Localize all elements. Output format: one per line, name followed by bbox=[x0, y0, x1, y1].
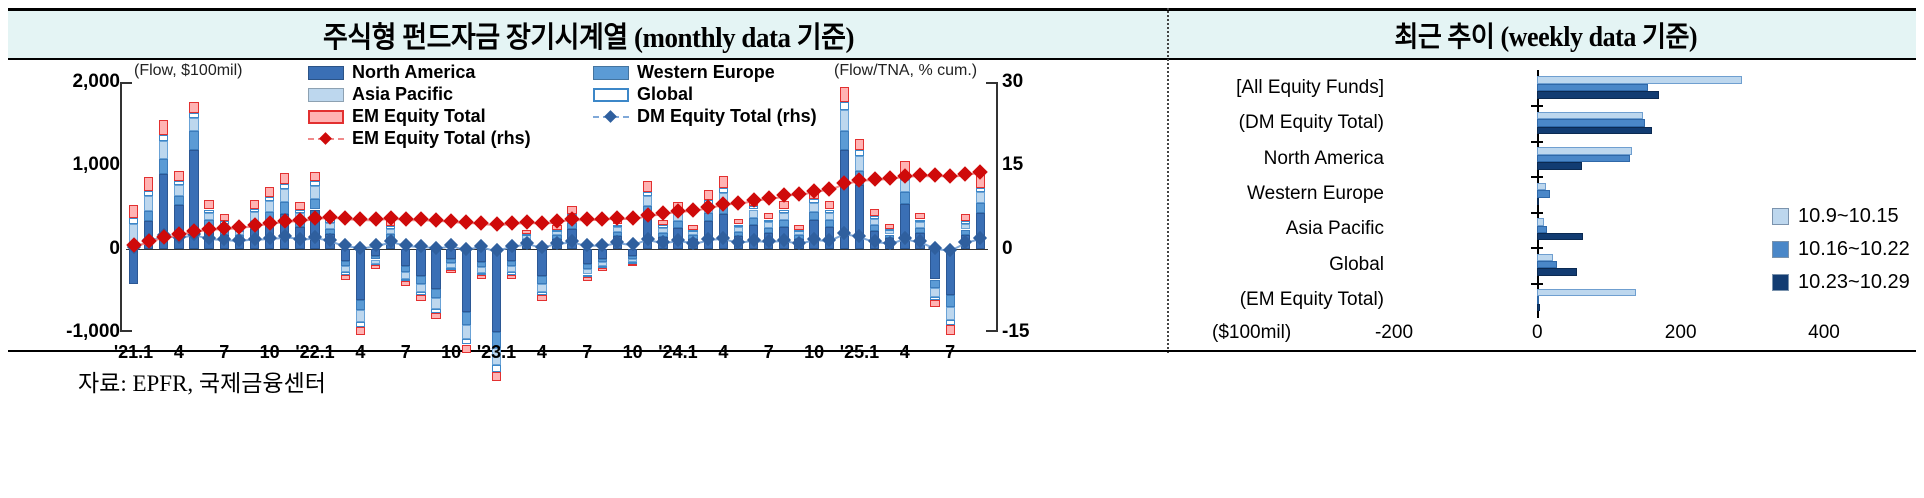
bar-segment bbox=[431, 289, 440, 298]
data-marker bbox=[595, 211, 611, 227]
data-marker bbox=[625, 210, 641, 226]
bar-segment bbox=[885, 224, 894, 229]
weekly-bar bbox=[1537, 296, 1539, 303]
data-marker bbox=[942, 168, 958, 184]
bar-segment bbox=[673, 221, 682, 228]
x-tick-label: '22.1 bbox=[295, 342, 334, 363]
bar-segment bbox=[930, 280, 939, 288]
bar-segment bbox=[764, 228, 773, 233]
legend-item[interactable]: EM Equity Total bbox=[308, 106, 593, 127]
bar-segment bbox=[280, 189, 289, 202]
bar-segment bbox=[371, 265, 380, 268]
weekly-bar bbox=[1537, 162, 1581, 169]
weekly-axis-tick bbox=[1531, 283, 1543, 285]
weekly-legend-swatch bbox=[1772, 241, 1789, 258]
bar-segment bbox=[764, 213, 773, 220]
bar-segment bbox=[159, 159, 168, 174]
header-band: 주식형 펀드자금 장기시계열 (monthly data 기준) 최근 추이 (… bbox=[8, 8, 1916, 60]
bar-segment bbox=[704, 190, 713, 200]
bar-segment bbox=[643, 196, 652, 206]
bar-segment bbox=[809, 212, 818, 220]
data-marker bbox=[685, 202, 701, 218]
data-marker bbox=[504, 215, 520, 231]
legend-swatch bbox=[593, 66, 629, 80]
weekly-x-tick-label: -200 bbox=[1375, 322, 1413, 344]
y-axis-right: 30150-15 bbox=[1002, 82, 1072, 332]
bar-segment bbox=[825, 210, 834, 213]
bar-segment bbox=[825, 201, 834, 209]
data-marker bbox=[882, 170, 898, 186]
weekly-bar bbox=[1537, 218, 1543, 225]
legend-item[interactable]: Western Europe bbox=[593, 62, 868, 83]
bar-segment bbox=[825, 213, 834, 221]
legend-label: DM Equity Total (rhs) bbox=[637, 106, 817, 127]
bar-segment bbox=[144, 196, 153, 211]
bar-segment bbox=[144, 177, 153, 191]
bar-segment bbox=[416, 284, 425, 292]
weekly-legend-swatch bbox=[1772, 274, 1789, 291]
data-marker bbox=[867, 171, 883, 187]
bar-segment bbox=[915, 228, 924, 233]
bar-segment bbox=[492, 372, 501, 381]
weekly-bar bbox=[1537, 254, 1553, 261]
bar-segment bbox=[915, 220, 924, 223]
bar-segment bbox=[583, 277, 592, 281]
bar-segment bbox=[416, 295, 425, 301]
bar-segment bbox=[794, 231, 803, 235]
bar-segment bbox=[809, 203, 818, 212]
bar-segment bbox=[310, 172, 319, 181]
bar-segment bbox=[961, 214, 970, 222]
bar-segment bbox=[628, 264, 637, 267]
bar-segment bbox=[764, 222, 773, 228]
bar-segment bbox=[280, 202, 289, 214]
weekly-bar bbox=[1537, 268, 1576, 275]
weekly-bar bbox=[1537, 261, 1557, 268]
page-title-left: 주식형 펀드자금 장기시계열 (monthly data 기준) bbox=[322, 14, 853, 56]
bar-segment bbox=[870, 225, 879, 231]
weekly-bar bbox=[1537, 91, 1659, 98]
bar-segment bbox=[356, 249, 365, 301]
x-tick-label: 4 bbox=[174, 342, 184, 363]
weekly-bar bbox=[1537, 112, 1643, 119]
x-tick-label: 4 bbox=[718, 342, 728, 363]
legend-swatch bbox=[308, 66, 344, 80]
bar-segment bbox=[310, 181, 319, 186]
legend-label: North America bbox=[352, 62, 475, 83]
legend-item[interactable]: North America bbox=[308, 62, 593, 83]
bar-segment bbox=[250, 209, 259, 212]
bar-segment bbox=[401, 281, 410, 286]
bar-segment bbox=[976, 203, 985, 213]
weekly-bar bbox=[1537, 84, 1648, 91]
weekly-axis-tick bbox=[1531, 247, 1543, 249]
bar-segment bbox=[719, 176, 728, 188]
bar-segment bbox=[658, 225, 667, 228]
weekly-plot-area bbox=[1394, 70, 1824, 318]
bar-segment bbox=[416, 276, 425, 284]
legend-column: Western EuropeGlobalDM Equity Total (rhs… bbox=[593, 62, 868, 128]
monthly-flows-chart: (Flow, $100mil) (Flow/TNA, % cum.) 2,000… bbox=[8, 60, 1166, 352]
weekly-category-label: [All Equity Funds] bbox=[1236, 77, 1384, 99]
data-marker bbox=[443, 213, 459, 229]
weekly-category-label: Western Europe bbox=[1247, 183, 1384, 205]
bar-segment bbox=[144, 211, 153, 221]
data-marker bbox=[731, 195, 747, 211]
bar-segment bbox=[250, 200, 259, 208]
bar-segment bbox=[930, 288, 939, 297]
bar-segment bbox=[537, 276, 546, 284]
x-tick-label: 7 bbox=[401, 342, 411, 363]
weekly-category-label: Asia Pacific bbox=[1286, 218, 1384, 240]
bar-segment bbox=[446, 270, 455, 273]
bar-segment bbox=[749, 218, 758, 226]
weekly-x-axis-labels: -2000200400 bbox=[1394, 322, 1824, 348]
data-marker bbox=[958, 166, 974, 182]
bar-segment bbox=[809, 199, 818, 203]
bar-segment bbox=[688, 225, 697, 230]
weekly-bar bbox=[1537, 233, 1583, 240]
y2-tick-label: -15 bbox=[1002, 321, 1029, 343]
figure-root: 주식형 펀드자금 장기시계열 (monthly data 기준) 최근 추이 (… bbox=[0, 0, 1924, 498]
data-marker bbox=[579, 211, 595, 227]
bar-segment bbox=[507, 275, 516, 279]
legend-column: North AmericaAsia PacificEM Equity Total… bbox=[308, 62, 593, 150]
x-tick-label: 4 bbox=[537, 342, 547, 363]
bar-segment bbox=[779, 210, 788, 213]
weekly-category-label: (DM Equity Total) bbox=[1239, 112, 1384, 134]
weekly-bar bbox=[1537, 289, 1636, 296]
bar-segment bbox=[734, 225, 743, 228]
bar-segment bbox=[658, 228, 667, 233]
bar-segment bbox=[552, 230, 561, 232]
x-tick-label: 10 bbox=[260, 342, 280, 363]
bar-segment bbox=[749, 210, 758, 218]
bar-segment bbox=[310, 199, 319, 210]
weekly-bar bbox=[1537, 127, 1652, 134]
bar-segment bbox=[764, 220, 773, 223]
bar-segment bbox=[280, 184, 289, 189]
bar-segment bbox=[386, 226, 395, 229]
weekly-x-tick-label: 200 bbox=[1665, 322, 1697, 344]
bar-segment bbox=[174, 185, 183, 196]
bar-segment bbox=[189, 118, 198, 131]
bar-segment bbox=[356, 327, 365, 335]
bar-segment bbox=[825, 220, 834, 227]
legend-line-marker bbox=[308, 132, 344, 146]
data-marker bbox=[519, 214, 535, 230]
bar-segment bbox=[189, 113, 198, 118]
x-tick-label: 7 bbox=[945, 342, 955, 363]
weekly-legend-label: 10.23~10.29 bbox=[1798, 271, 1910, 294]
bar-segment bbox=[431, 298, 440, 309]
bar-segment bbox=[462, 249, 471, 312]
weekly-bar bbox=[1537, 183, 1546, 190]
legend-label: Western Europe bbox=[637, 62, 775, 83]
bar-segment bbox=[189, 102, 198, 113]
bar-segment bbox=[794, 225, 803, 230]
legend-label: EM Equity Total (rhs) bbox=[352, 128, 531, 149]
legend-swatch bbox=[308, 110, 344, 124]
legend-line-marker bbox=[593, 110, 629, 124]
x-tick-label: 4 bbox=[355, 342, 365, 363]
bar-segment bbox=[946, 307, 955, 320]
bar-segment bbox=[537, 284, 546, 292]
data-marker bbox=[428, 213, 444, 229]
y2-tick-label: 30 bbox=[1002, 71, 1023, 93]
bar-segment bbox=[976, 192, 985, 203]
bar-segment bbox=[734, 227, 743, 232]
bar-segment bbox=[946, 295, 955, 307]
data-marker bbox=[398, 211, 414, 227]
legend-swatch bbox=[308, 88, 344, 102]
weekly-legend-swatch bbox=[1772, 208, 1789, 225]
bar-segment bbox=[401, 272, 410, 279]
bar-segment bbox=[265, 201, 274, 212]
weekly-legend-item[interactable]: 10.23~10.29 bbox=[1772, 266, 1910, 299]
bar-segment bbox=[885, 230, 894, 234]
bar-segment bbox=[915, 213, 924, 220]
weekly-axis-tick bbox=[1531, 105, 1543, 107]
bar-segment bbox=[930, 300, 939, 307]
bar-segment bbox=[961, 230, 970, 235]
bar-segment bbox=[492, 249, 501, 332]
y2-tick-label: 0 bbox=[1002, 238, 1013, 260]
bar-segment bbox=[477, 275, 486, 279]
bar-segment bbox=[946, 325, 955, 335]
bar-segment bbox=[900, 192, 909, 204]
data-marker bbox=[368, 211, 384, 227]
data-marker bbox=[927, 168, 943, 184]
bar-segment bbox=[688, 231, 697, 235]
header-right: 최근 추이 (weekly data 기준) bbox=[1176, 11, 1916, 58]
bar-segment bbox=[870, 216, 879, 219]
bar-segment bbox=[688, 230, 697, 232]
data-marker bbox=[489, 216, 505, 232]
weekly-legend: 10.9~10.1510.16~10.2210.23~10.29 bbox=[1772, 200, 1910, 299]
bar-segment bbox=[310, 186, 319, 199]
data-marker bbox=[912, 167, 928, 183]
page-title-right: 최근 추이 (weekly data 기준) bbox=[1395, 15, 1698, 55]
legend-item[interactable]: EM Equity Total (rhs) bbox=[308, 128, 593, 149]
y-tick-label: 2,000 bbox=[72, 71, 120, 93]
weekly-axis-tick bbox=[1531, 141, 1543, 143]
weekly-bar bbox=[1537, 76, 1741, 83]
weekly-category-label: North America bbox=[1264, 148, 1384, 170]
bar-segment bbox=[870, 209, 879, 217]
bar-segment bbox=[189, 131, 198, 150]
x-tick-label: '23.1 bbox=[477, 342, 516, 363]
x-tick-label: 10 bbox=[804, 342, 824, 363]
bar-segment bbox=[159, 141, 168, 159]
bar-segment bbox=[537, 295, 546, 301]
legend-label: EM Equity Total bbox=[352, 106, 486, 127]
x-tick-label: '25.1 bbox=[840, 342, 879, 363]
weekly-bar bbox=[1537, 304, 1540, 311]
data-marker bbox=[474, 215, 490, 231]
header-left: 주식형 펀드자금 장기시계열 (monthly data 기준) bbox=[8, 11, 1168, 58]
weekly-category-label: Global bbox=[1329, 254, 1384, 276]
data-marker bbox=[761, 190, 777, 206]
weekly-bar bbox=[1537, 226, 1547, 233]
legend-swatch bbox=[593, 88, 629, 102]
bar-segment bbox=[976, 188, 985, 192]
bar-segment bbox=[129, 218, 138, 224]
legend-label: Asia Pacific bbox=[352, 84, 453, 105]
bar-segment bbox=[961, 221, 970, 224]
bar-segment bbox=[870, 219, 879, 226]
weekly-x-tick-label: 0 bbox=[1532, 322, 1543, 344]
x-tick-label: 7 bbox=[219, 342, 229, 363]
x-tick-label: 10 bbox=[623, 342, 643, 363]
bar-segment bbox=[280, 173, 289, 184]
data-marker bbox=[353, 211, 369, 227]
bar-segment bbox=[643, 181, 652, 192]
bar-segment bbox=[794, 230, 803, 232]
bar-segment bbox=[265, 187, 274, 197]
bar-segment bbox=[204, 200, 213, 209]
bar-segment bbox=[961, 224, 970, 230]
legend-label: Global bbox=[637, 84, 693, 105]
weekly-x-tick-label: 400 bbox=[1808, 322, 1840, 344]
bar-segment bbox=[159, 120, 168, 135]
source-note: 자료: EPFR, 국제금융센터 bbox=[78, 364, 326, 398]
left-axis-unit-label: (Flow, $100mil) bbox=[134, 62, 242, 80]
weekly-unit-label: ($100mil) bbox=[1212, 322, 1291, 344]
legend-item[interactable]: DM Equity Total (rhs) bbox=[593, 106, 868, 127]
bar-segment bbox=[341, 275, 350, 280]
bar-segment bbox=[598, 268, 607, 271]
weekly-bar bbox=[1537, 198, 1539, 205]
data-marker bbox=[534, 215, 550, 231]
bar-segment bbox=[552, 231, 561, 235]
y-axis-left: 2,0001,0000-1,000 bbox=[8, 82, 120, 332]
weekly-legend-item[interactable]: 10.9~10.15 bbox=[1772, 200, 1910, 233]
bar-segment bbox=[204, 213, 213, 221]
bar-segment bbox=[174, 181, 183, 185]
data-marker bbox=[458, 214, 474, 230]
bar-segment bbox=[734, 219, 743, 225]
bar-segment bbox=[431, 313, 440, 320]
data-marker bbox=[791, 186, 807, 202]
weekly-axis-tick bbox=[1531, 176, 1543, 178]
bar-segment bbox=[129, 205, 138, 218]
weekly-bar bbox=[1537, 147, 1632, 154]
y2-tick-label: 15 bbox=[1002, 154, 1023, 176]
legend-item[interactable]: Global bbox=[593, 84, 868, 105]
x-tick-label: 7 bbox=[764, 342, 774, 363]
data-marker bbox=[821, 181, 837, 197]
bar-segment bbox=[522, 230, 531, 233]
weekly-axis-tick bbox=[1531, 212, 1543, 214]
weekly-bar bbox=[1537, 155, 1630, 162]
bar-segment bbox=[915, 222, 924, 228]
x-tick-label: 7 bbox=[582, 342, 592, 363]
weekly-category-label: (EM Equity Total) bbox=[1240, 289, 1384, 311]
y-tick-label: 1,000 bbox=[72, 154, 120, 176]
bar-segment bbox=[174, 196, 183, 205]
bar-segment bbox=[356, 310, 365, 322]
bar-segment bbox=[885, 229, 894, 231]
data-marker bbox=[337, 210, 353, 226]
weekly-legend-item[interactable]: 10.16~10.22 bbox=[1772, 233, 1910, 266]
bar-segment bbox=[613, 227, 622, 232]
bar-segment bbox=[356, 300, 365, 310]
bar-segment bbox=[855, 156, 864, 171]
bar-segment bbox=[144, 191, 153, 196]
bar-segment bbox=[855, 150, 864, 156]
x-tick-label: '24.1 bbox=[658, 342, 697, 363]
weekly-category-labels: [All Equity Funds](DM Equity Total)North… bbox=[1172, 70, 1384, 318]
weekly-legend-label: 10.16~10.22 bbox=[1798, 238, 1910, 261]
y-tick-label: 0 bbox=[109, 238, 120, 260]
bar-segment bbox=[295, 202, 304, 210]
x-tick-label: 4 bbox=[900, 342, 910, 363]
weekly-flows-chart: [All Equity Funds](DM Equity Total)North… bbox=[1172, 60, 1916, 352]
bar-segment bbox=[265, 197, 274, 201]
bar-segment bbox=[462, 312, 471, 325]
weekly-legend-label: 10.9~10.15 bbox=[1798, 205, 1899, 228]
bar-segment bbox=[719, 188, 728, 193]
monthly-legend: North AmericaAsia PacificEM Equity Total… bbox=[308, 62, 868, 150]
data-marker bbox=[413, 211, 429, 227]
bar-segment bbox=[643, 192, 652, 196]
bar-segment bbox=[462, 325, 471, 339]
bar-segment bbox=[204, 210, 213, 213]
bar-segment bbox=[779, 220, 788, 227]
weekly-bar bbox=[1537, 190, 1550, 197]
bar-segment bbox=[159, 135, 168, 142]
x-tick-label: 10 bbox=[441, 342, 461, 363]
legend-item[interactable]: Asia Pacific bbox=[308, 84, 593, 105]
x-tick-label: '21.1 bbox=[114, 342, 153, 363]
bar-segment bbox=[174, 171, 183, 181]
y-tick-label: -1,000 bbox=[66, 321, 120, 343]
weekly-bar bbox=[1537, 119, 1645, 126]
bar-segment bbox=[779, 213, 788, 221]
